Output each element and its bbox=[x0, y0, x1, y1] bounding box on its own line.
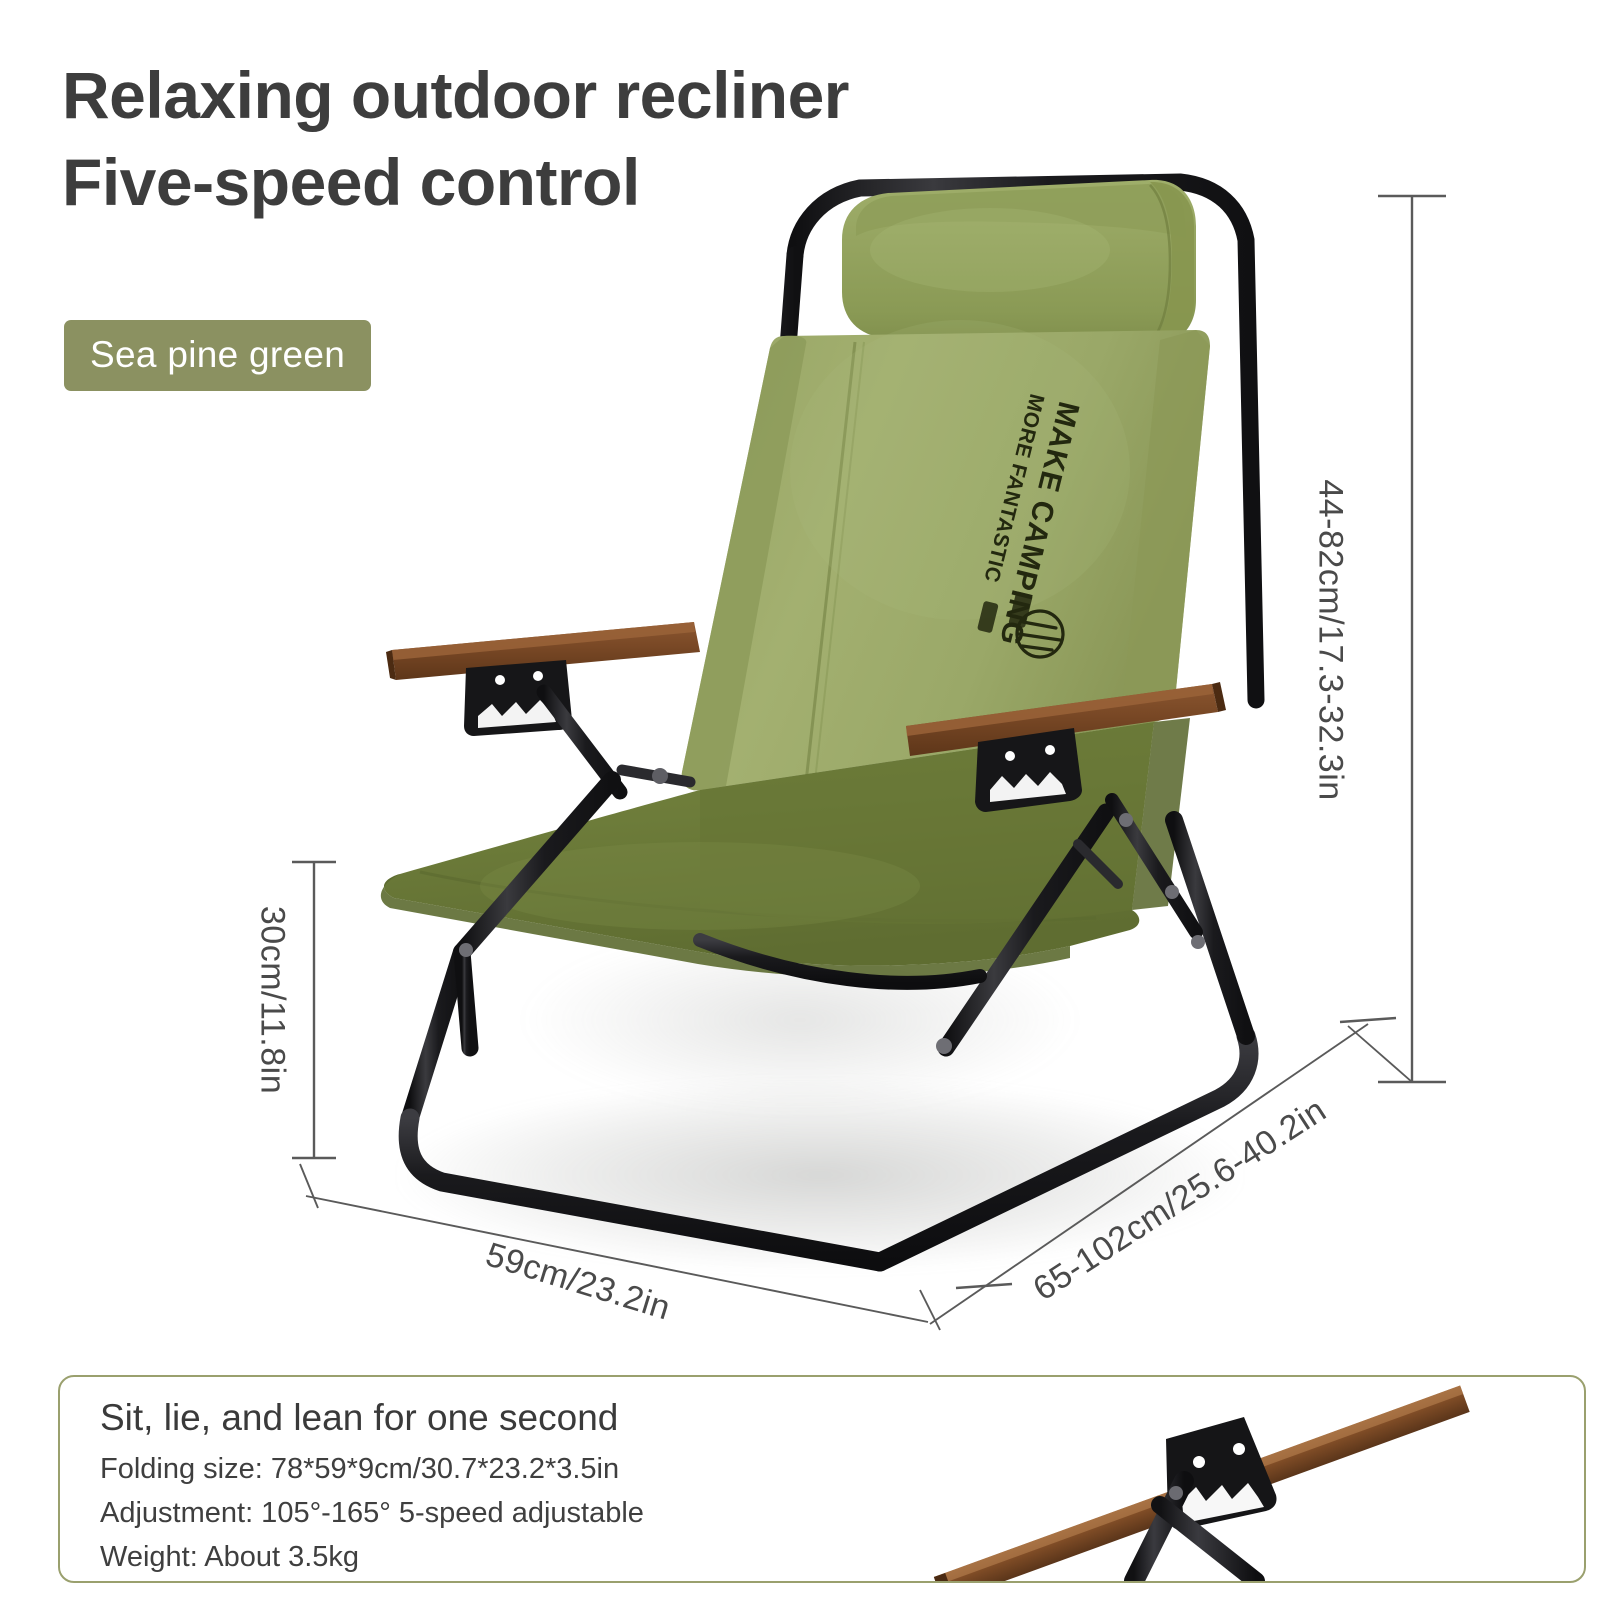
specs-card: Sit, lie, and lean for one second Foldin… bbox=[58, 1375, 1586, 1583]
product-infographic: Relaxing outdoor recliner Five-speed con… bbox=[0, 0, 1600, 1600]
specs-title: Sit, lie, and lean for one second bbox=[100, 1393, 860, 1443]
armrest-detail-photo bbox=[884, 1377, 1584, 1581]
dimension-label-seat-height: 30cm/11.8in bbox=[253, 906, 292, 1094]
dim-line-depth bbox=[930, 1024, 1368, 1324]
dim-tick-width-left bbox=[300, 1164, 318, 1208]
dimension-lines bbox=[0, 0, 1600, 1340]
spec-weight: Weight: About 3.5kg bbox=[100, 1535, 860, 1579]
product-photo: MAKE CAMPING MORE FANTASTIC bbox=[0, 0, 1600, 1340]
dim-tick-depth-far bbox=[1340, 1018, 1396, 1022]
dimension-label-height: 44-82cm/17.3-32.3in bbox=[1311, 479, 1350, 800]
spec-folding-size: Folding size: 78*59*9cm/30.7*23.2*3.5in bbox=[100, 1447, 860, 1491]
spec-adjustment: Adjustment: 105°-165° 5-speed adjustable bbox=[100, 1491, 860, 1535]
specs-text-block: Sit, lie, and lean for one second Foldin… bbox=[100, 1393, 860, 1579]
